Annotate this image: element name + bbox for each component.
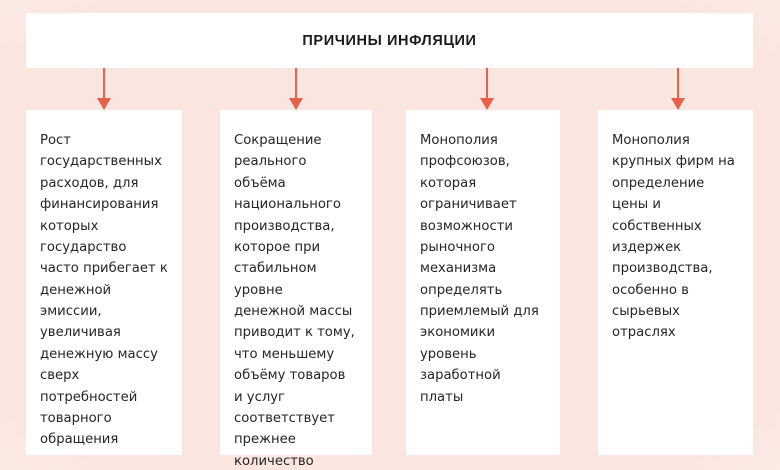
cause-text-1: Рост государственных расходов, для финан…	[40, 130, 168, 451]
cause-text-2: Сокращение реального объёма национальног…	[234, 130, 358, 470]
cause-box-4: Монополия крупных фирм на определение це…	[598, 110, 753, 455]
arrow-to-cause-4-icon	[671, 68, 685, 110]
arrow-head	[97, 98, 111, 110]
arrow-head	[289, 98, 303, 110]
arrow-to-cause-1-icon	[97, 68, 111, 110]
arrow-to-cause-2-icon	[289, 68, 303, 110]
page-title: ПРИЧИНЫ ИНФЛЯЦИИ	[302, 33, 476, 49]
arrow-to-cause-3-icon	[480, 68, 494, 110]
cause-box-3: Монополия профсоюзов, которая ограничива…	[406, 110, 560, 455]
title-box: ПРИЧИНЫ ИНФЛЯЦИИ	[26, 13, 753, 68]
cause-box-1: Рост государственных расходов, для финан…	[26, 110, 182, 455]
cause-text-4: Монополия крупных фирм на определение це…	[612, 130, 739, 344]
arrow-head	[480, 98, 494, 110]
arrow-shaft	[103, 68, 105, 99]
arrow-shaft	[486, 68, 488, 99]
cause-text-3: Монополия профсоюзов, которая ограничива…	[420, 130, 546, 408]
diagram-canvas: ПРИЧИНЫ ИНФЛЯЦИИ Рост государственных ра…	[0, 0, 780, 470]
cause-box-2: Сокращение реального объёма национальног…	[220, 110, 372, 455]
arrow-shaft	[295, 68, 297, 99]
arrow-head	[671, 98, 685, 110]
arrow-shaft	[677, 68, 679, 99]
